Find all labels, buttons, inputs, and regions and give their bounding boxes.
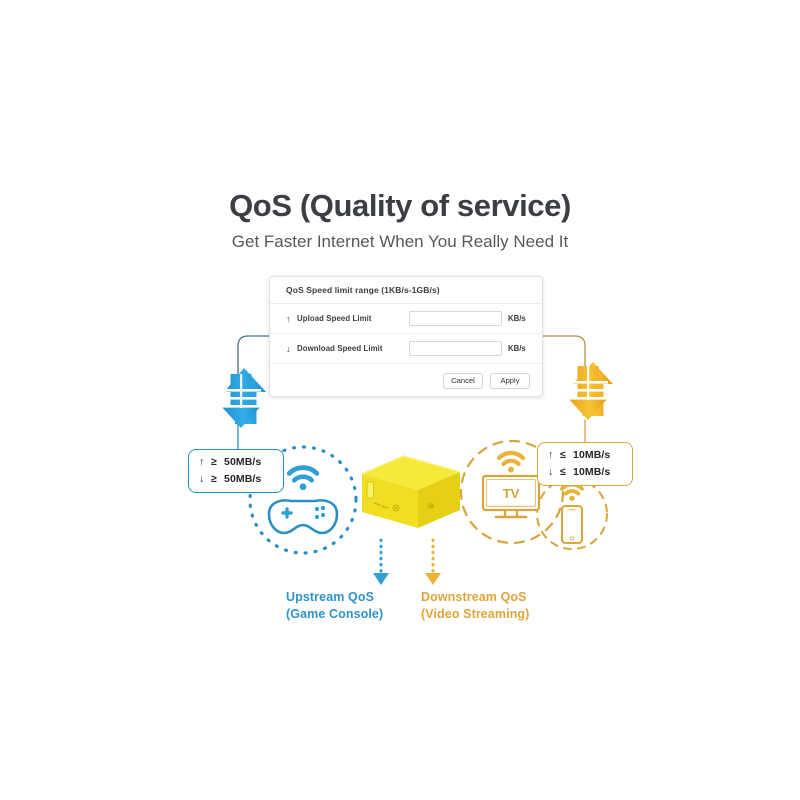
download-speed-unit: KB/s [508, 344, 542, 353]
dialog-footer: Cancel Apply [270, 364, 542, 397]
downstream-arrow-pair [568, 362, 613, 420]
upload-arrow-icon: ↑ [286, 314, 297, 324]
up-arrow-icon: ↑ [199, 454, 211, 471]
upstream-upload-value: 50MB/s [224, 456, 261, 468]
downstream-upload-value: 10MB/s [573, 449, 610, 461]
upload-speed-limit-label: Upload Speed Limit [297, 314, 372, 323]
upstream-download-value: 50MB/s [224, 473, 261, 485]
lte-symbol: ≤ [560, 447, 573, 464]
upload-speed-unit: KB/s [508, 314, 542, 323]
bidirectional-arrows [0, 0, 800, 800]
qos-infographic: QoS (Quality of service) Get Faster Inte… [0, 0, 800, 800]
download-speed-limit-row: ↓ Download Speed Limit KB/s [270, 334, 542, 364]
download-speed-limit-label: Download Speed Limit [297, 344, 383, 353]
gte-symbol: ≥ [211, 471, 224, 488]
apply-button[interactable]: Apply [490, 373, 530, 389]
gte-symbol: ≥ [211, 454, 224, 471]
dialog-header: QoS Speed limit range (1KB/s-1GB/s) [270, 277, 542, 304]
up-arrow-icon: ↑ [548, 447, 560, 464]
lte-symbol: ≤ [560, 464, 573, 481]
cancel-button[interactable]: Cancel [443, 373, 483, 389]
downstream-speed-badge: ↑≤10MB/s ↓≤10MB/s [537, 442, 633, 486]
upstream-badge-line-1: ↑≥50MB/s [199, 454, 273, 471]
down-arrow-icon: ↓ [548, 464, 560, 481]
download-speed-limit-input[interactable] [409, 341, 502, 356]
upstream-arrow-pair [221, 370, 266, 428]
downstream-badge-line-2: ↓≤10MB/s [548, 464, 622, 481]
downstream-badge-line-1: ↑≤10MB/s [548, 447, 622, 464]
upload-speed-limit-input[interactable] [409, 311, 502, 326]
down-arrow-icon: ↓ [199, 471, 211, 488]
download-arrow-icon: ↓ [286, 344, 297, 354]
upstream-badge-line-2: ↓≥50MB/s [199, 471, 273, 488]
downstream-download-value: 10MB/s [573, 466, 610, 478]
qos-speed-limit-dialog: QoS Speed limit range (1KB/s-1GB/s) ↑ Up… [269, 276, 543, 397]
dialog-title: QoS Speed limit range (1KB/s-1GB/s) [286, 285, 440, 295]
upload-speed-limit-row: ↑ Upload Speed Limit KB/s [270, 304, 542, 334]
upstream-speed-badge: ↑≥50MB/s ↓≥50MB/s [188, 449, 284, 493]
